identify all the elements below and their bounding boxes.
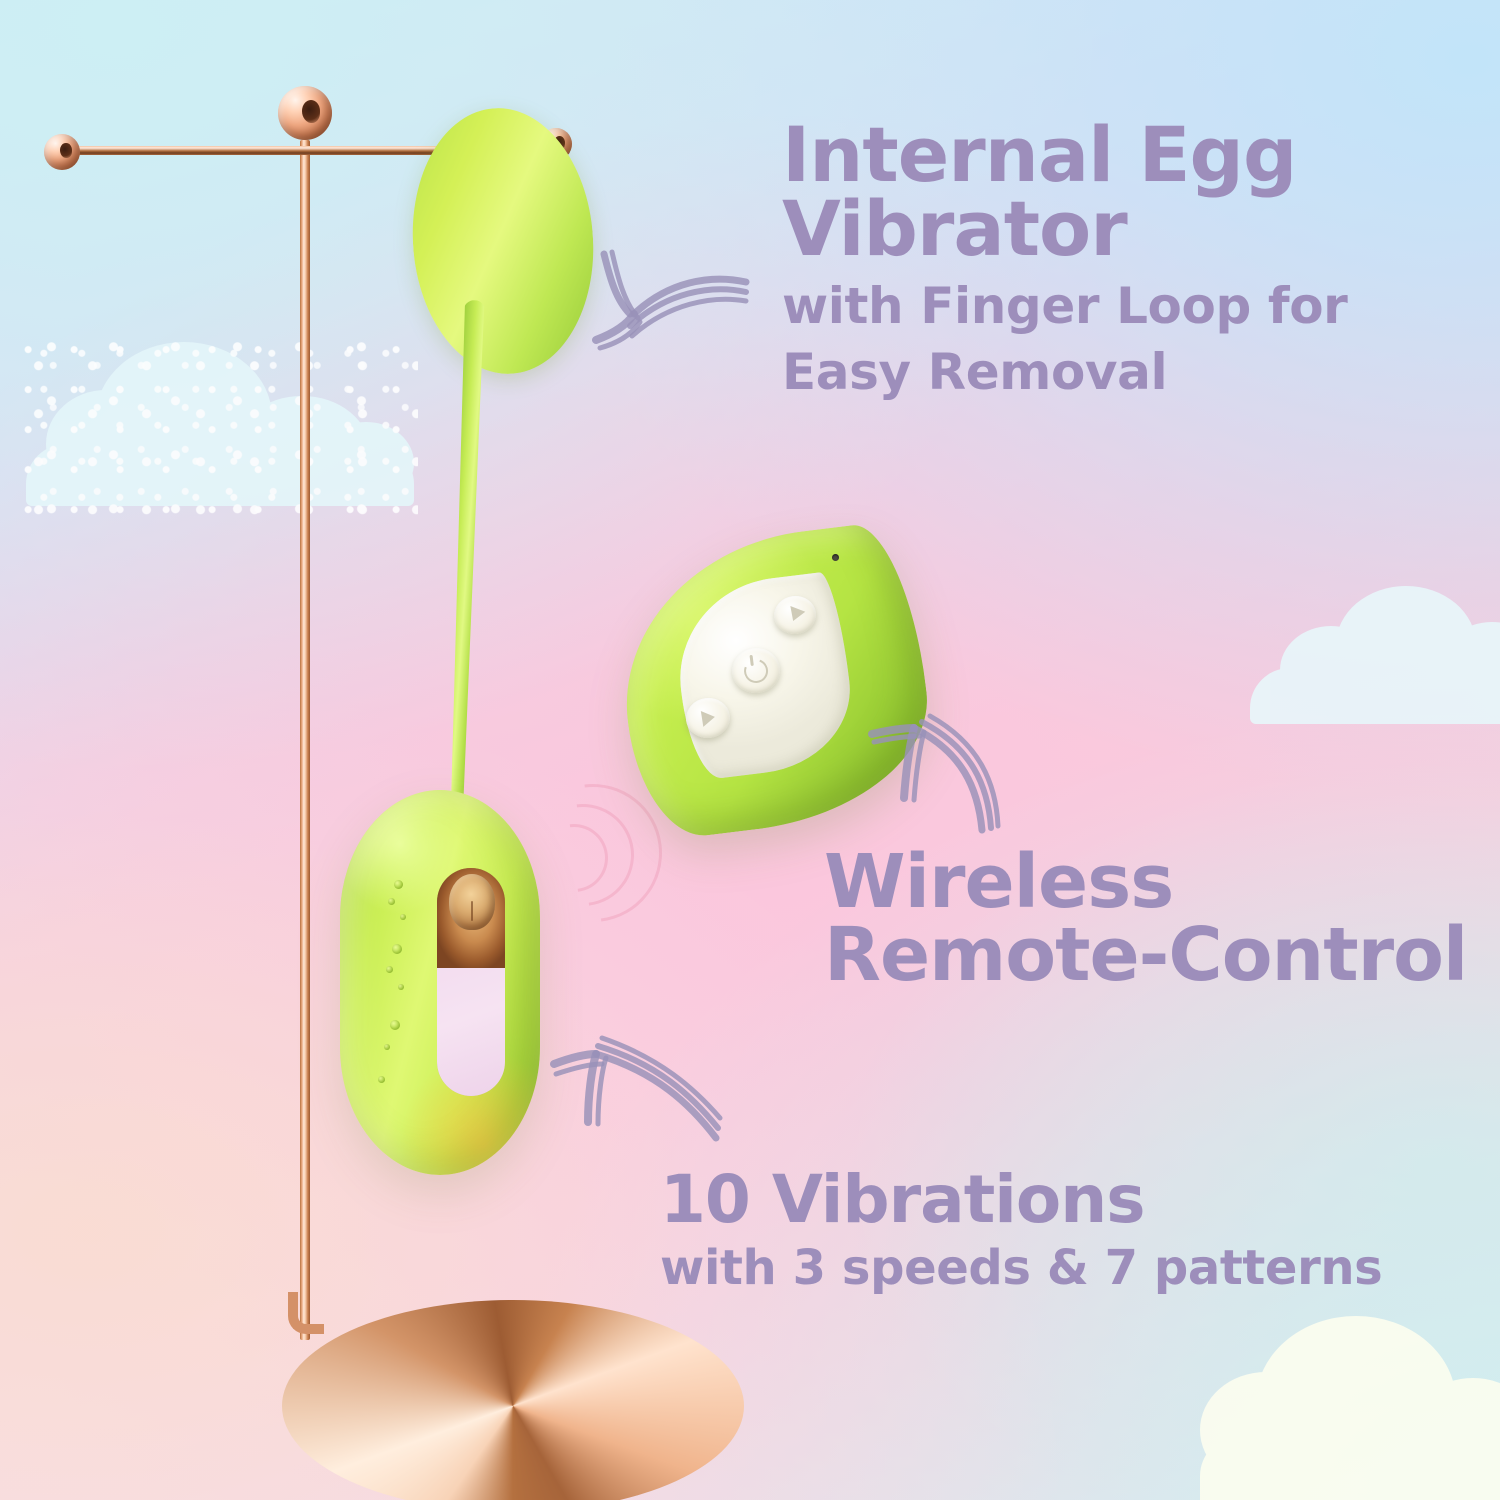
mic-hole-icon — [832, 554, 839, 561]
product-feature-poster: Internal Egg Vibrator with Finger Loop f… — [0, 0, 1500, 1500]
wireless-remote — [624, 536, 924, 826]
feature-1-headline-line1: Internal Egg — [782, 118, 1422, 192]
finger-loop-ring — [404, 102, 602, 380]
feature-1-sub-line2: Easy Removal — [782, 345, 1422, 399]
feature-1-headline-line2: Vibrator — [782, 192, 1422, 266]
feature-3-headline-line1: 10 Vibrations — [660, 1168, 1460, 1233]
feature-2-headline-line2: Remote-Control — [824, 919, 1474, 992]
stand-base-ring — [282, 1300, 744, 1500]
feature-vibrations-text: 10 Vibrations with 3 speeds & 7 patterns — [660, 1168, 1460, 1295]
cloud-bottom-right — [1200, 1316, 1500, 1500]
egg-vibrator-product — [0, 0, 700, 1300]
window-copper-cap — [437, 868, 505, 968]
texture-dots — [372, 880, 422, 1095]
feature-egg-vibrator-text: Internal Egg Vibrator with Finger Loop f… — [782, 118, 1422, 399]
charging-window — [437, 868, 505, 1096]
feature-2-headline-line1: Wireless — [824, 846, 1474, 919]
feature-1-sub-line1: with Finger Loop for — [782, 279, 1422, 333]
window-knob — [449, 874, 495, 930]
feature-3-sub-line1: with 3 speeds & 7 patterns — [660, 1243, 1460, 1295]
silicone-cord — [446, 300, 485, 800]
cloud-right-mid — [1250, 586, 1500, 736]
window-pink-panel — [437, 968, 505, 1096]
feature-remote-text: Wireless Remote-Control — [824, 846, 1474, 991]
